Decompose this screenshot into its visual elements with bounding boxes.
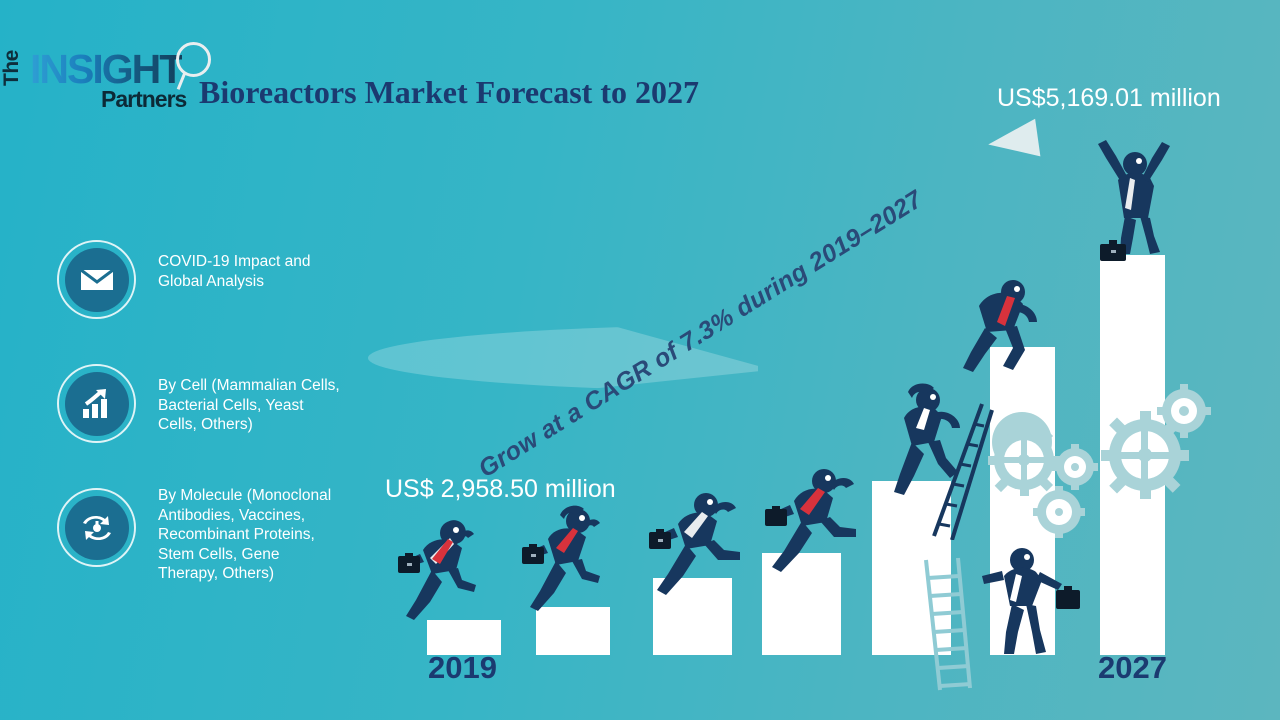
list-item-label: By Molecule (MonoclonalAntibodies, Vacci…: [158, 486, 390, 584]
ladder-lower-icon: [912, 556, 982, 694]
magnifier-bubble-icon: [176, 42, 211, 77]
molecule-cycle-icon: [65, 496, 129, 560]
axis-label-end-year: 2027: [1098, 650, 1167, 686]
standing-businessman-7: [978, 540, 1088, 660]
badge-ring: [57, 488, 136, 567]
logo-the-text: The: [0, 50, 24, 86]
gear-small-icon: [1033, 486, 1085, 538]
running-businesswoman-2: [516, 497, 616, 617]
list-item[interactable]: COVID-19 Impact andGlobal Analysis: [57, 240, 387, 320]
bar-chart-arrow-icon: [65, 372, 129, 436]
list-item-label: By Cell (Mammalian Cells,Bacterial Cells…: [158, 376, 390, 435]
brand-logo[interactable]: The INSIGHT Partners: [8, 40, 208, 120]
bar-chart-arrow-icon-glyph: [80, 388, 114, 420]
gear-large-icon: [988, 424, 1060, 496]
envelope-icon-glyph: [80, 267, 114, 293]
feature-list: COVID-19 Impact andGlobal Analysis By Ce…: [57, 240, 387, 612]
badge-ring: [57, 364, 136, 443]
list-item[interactable]: By Cell (Mammalian Cells,Bacterial Cells…: [57, 364, 387, 444]
briefcase-icon: [1098, 238, 1128, 262]
end-value-label: US$5,169.01 million: [997, 84, 1221, 113]
start-value-label: US$ 2,958.50 million: [385, 475, 616, 504]
page-title: Bioreactors Market Forecast to 2027: [199, 74, 699, 111]
growth-arrowhead-icon: [986, 119, 1041, 164]
list-item[interactable]: By Molecule (MonoclonalAntibodies, Vacci…: [57, 488, 387, 568]
gear-cluster-bar7: [1090, 375, 1220, 555]
list-item-label: COVID-19 Impact andGlobal Analysis: [158, 252, 390, 291]
ladder-upper-icon: [926, 400, 996, 540]
running-businessman-4: [762, 455, 872, 577]
running-businessman-1: [396, 508, 496, 626]
infographic-canvas: The INSIGHT Partners Bioreactors Market …: [0, 0, 1280, 720]
molecule-cycle-icon-glyph: [79, 512, 115, 544]
envelope-icon: [65, 248, 129, 312]
logo-partners-text: Partners: [101, 86, 186, 113]
badge-ring: [57, 240, 136, 319]
climbing-businessman-6: [955, 270, 1055, 380]
axis-label-start-year: 2019: [428, 650, 497, 686]
running-businessman-3: [648, 480, 758, 602]
